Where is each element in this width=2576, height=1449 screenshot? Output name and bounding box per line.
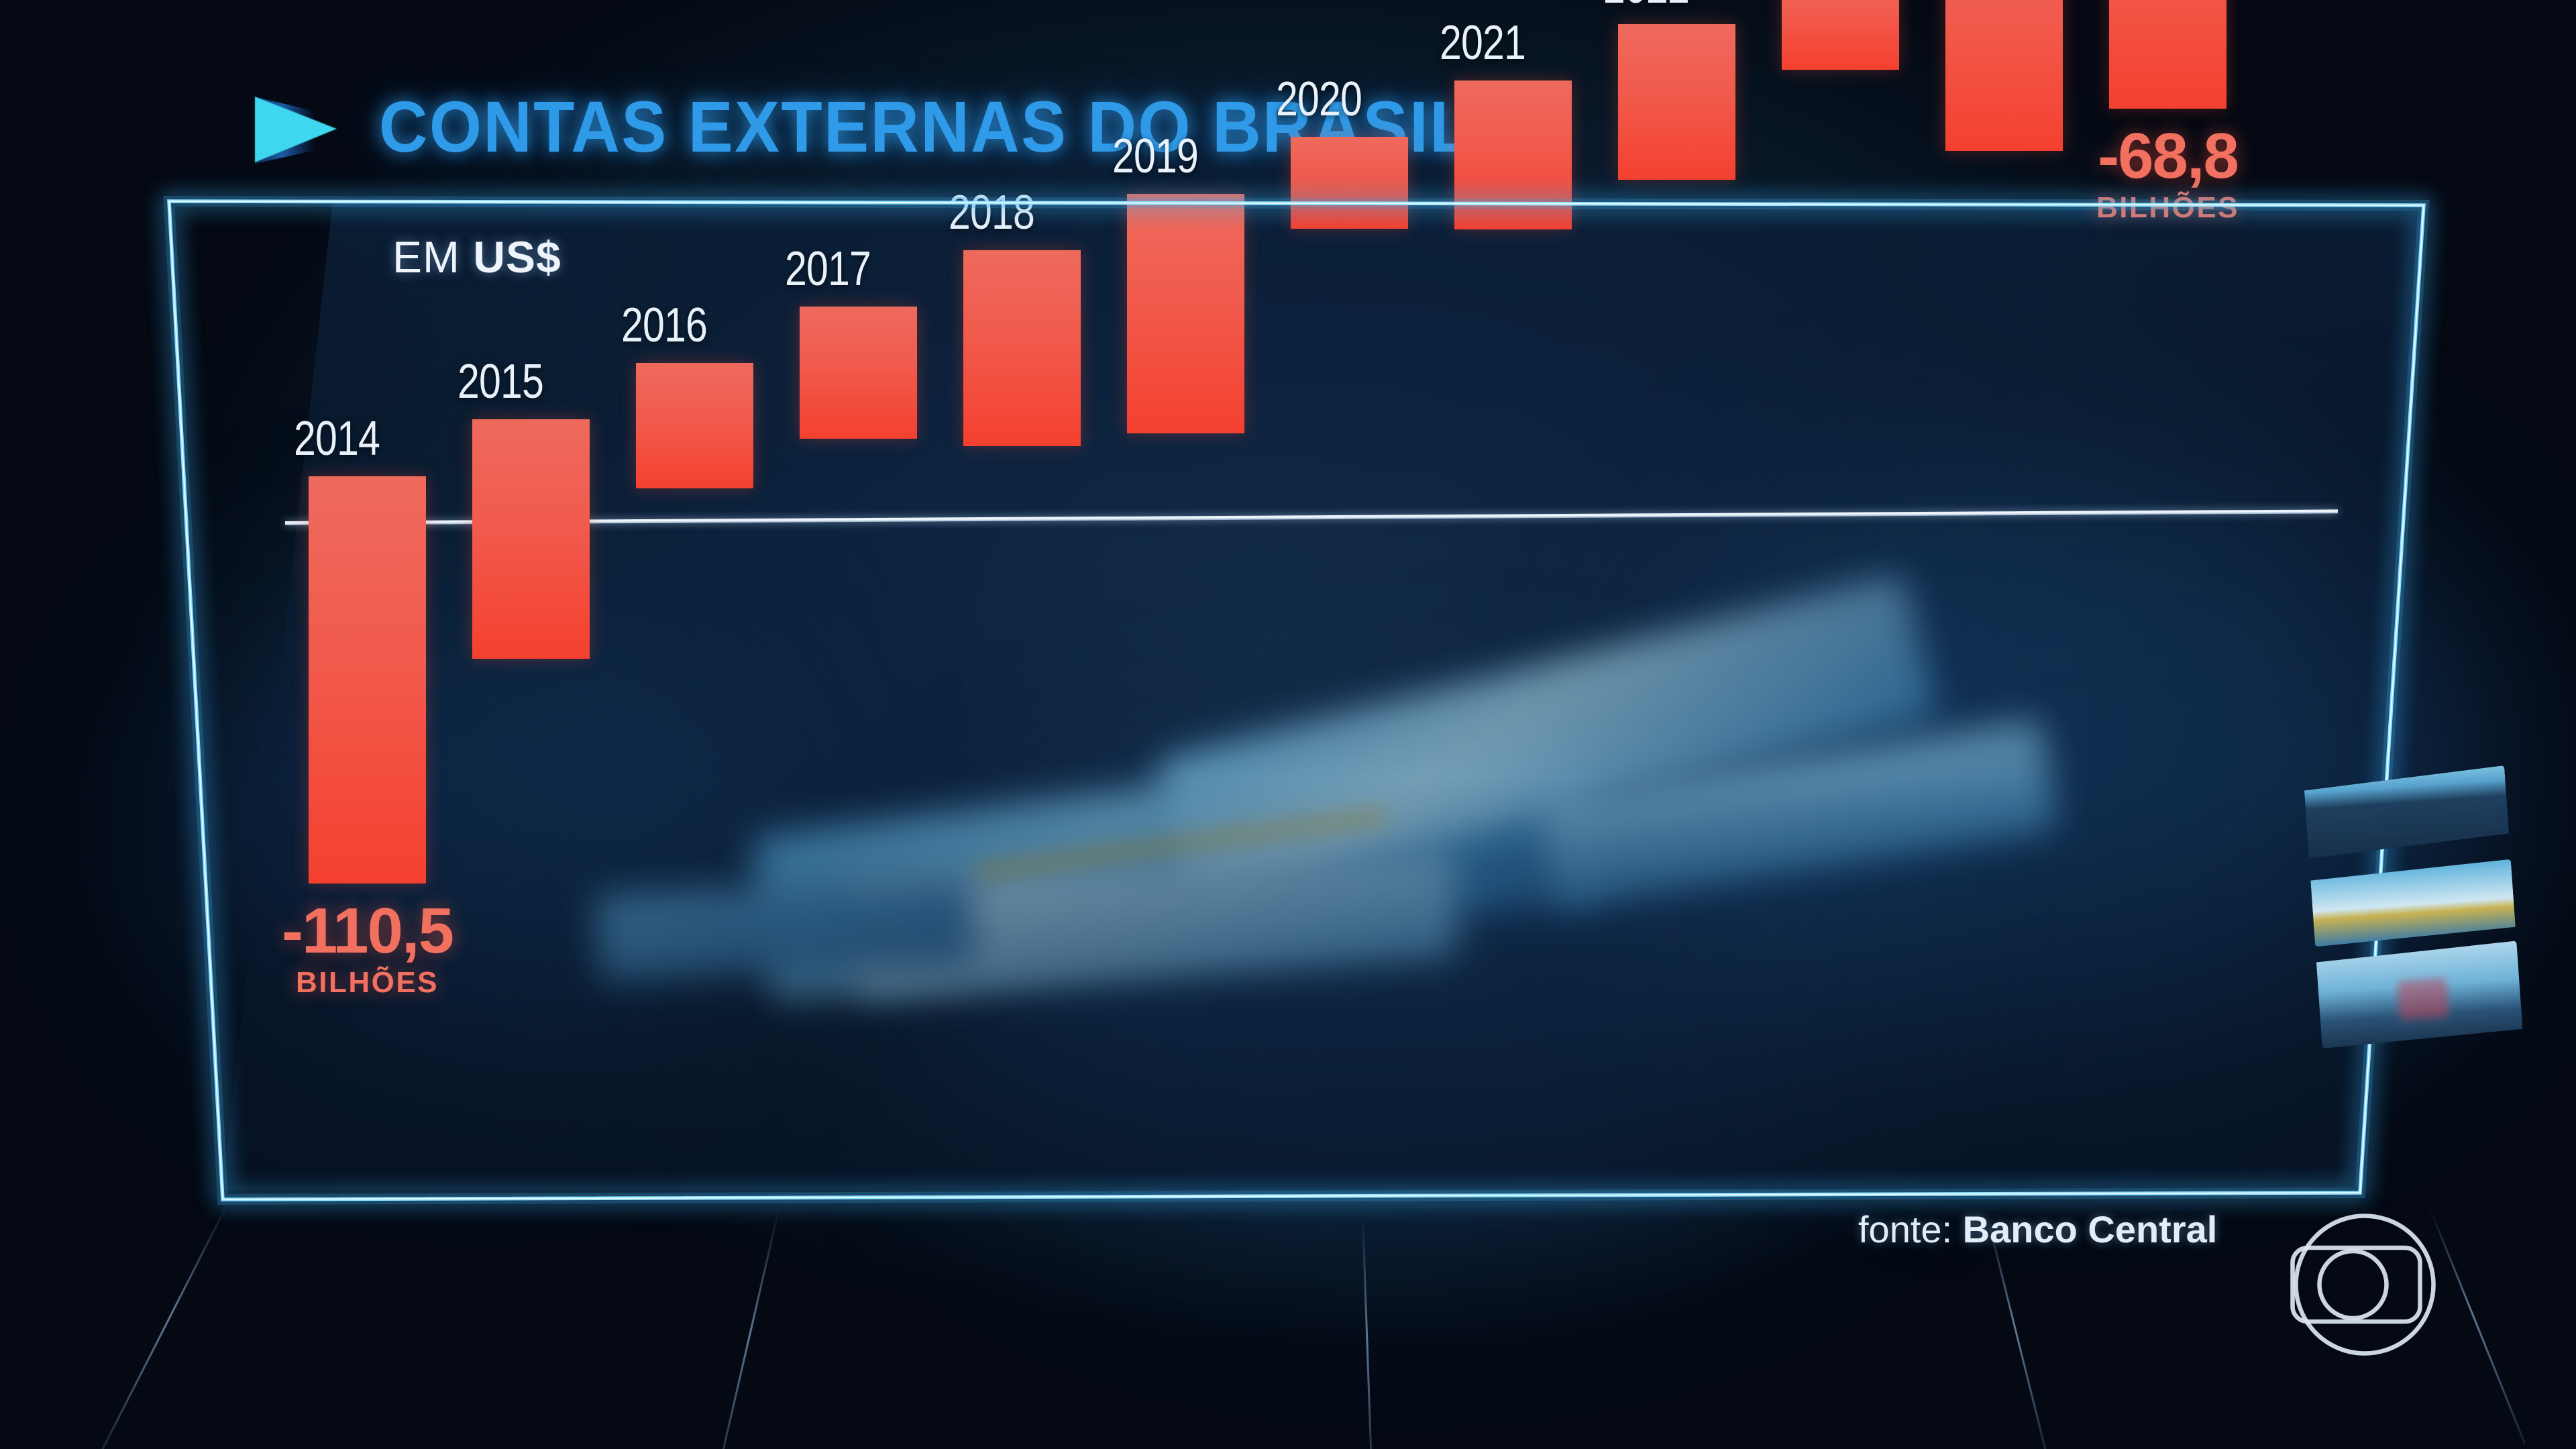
bar [800,307,917,439]
globo-logo-icon [2281,1201,2449,1368]
bar [1127,194,1244,433]
bar-value-number: -68,8 [2027,125,2309,187]
source-name: Banco Central [1963,1208,2218,1250]
bar-value-number: -110,5 [227,900,508,962]
perspective-floor-line [1362,1218,1373,1449]
bar-value-unit: BILHÕES [227,966,508,1000]
banknote-detail [2397,978,2449,1020]
chart-unit-prefix: EM [392,232,473,282]
bar-value-label: -68,8BILHÕES [2027,125,2309,225]
x-axis-tick-label: 2018 [949,185,1034,240]
x-axis-tick-label: 2016 [621,298,707,353]
banknote [2304,765,2510,859]
perspective-floor-line [97,1200,230,1449]
source-prefix: fonte: [1858,1208,1963,1250]
x-axis-tick-label: 2014 [294,411,380,466]
chart-zero-axis [285,509,2338,525]
bar [1618,24,1735,180]
bar-value-unit: BILHÕES [2027,191,2309,225]
bar [472,419,590,659]
play-triangle-icon [255,97,337,162]
broadcast-graphic-stage: CONTAS EXTERNAS DO BRASIL EM US$ 2014201… [0,0,2576,1449]
bar-chart: EM US$ 201420152016201720182019202020212… [168,195,2422,1201]
x-axis-tick-label: 2022 [1603,0,1689,14]
source-attribution: fonte: Banco Central [1858,1207,2217,1251]
bar [1454,80,1572,229]
bar [309,476,426,884]
bar [636,363,753,488]
x-axis-tick-label: 2017 [785,241,871,297]
bar-value-label: -110,5BILHÕES [227,900,508,1000]
bar [1782,0,1899,70]
banknote-stack [2303,757,2544,1067]
bar [1291,137,1408,229]
chart-unit-currency: US$ [473,232,561,282]
perspective-floor-line [713,1207,780,1449]
x-axis-tick-label: 2021 [1440,15,1525,70]
x-axis-tick-label: 2015 [458,354,543,409]
bar [2109,0,2226,109]
chart-unit-label: EM US$ [392,231,561,282]
banknote [2310,859,2516,947]
x-axis-tick-label: 2019 [1112,129,1198,184]
x-axis-tick-label: 2020 [1276,72,1362,127]
bar [963,250,1081,446]
